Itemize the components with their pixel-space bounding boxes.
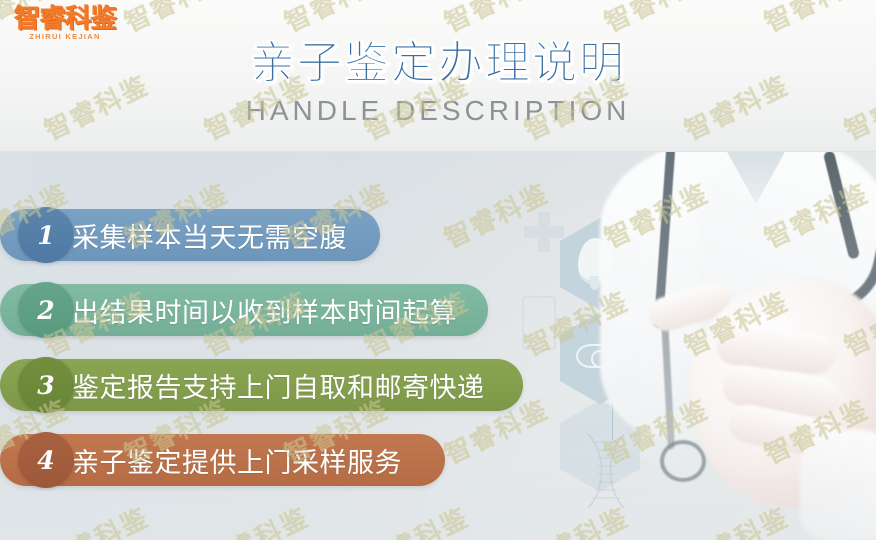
list-item-text-3: 鉴定报告支持上门自取和邮寄快递 (72, 366, 485, 405)
list-item-text-2: 出结果时间以收到样本时间起算 (72, 291, 457, 330)
header-band: 智睿科鉴 ZHIRUI KEJIAN 亲子鉴定办理说明 HANDLE DESCR… (0, 0, 876, 152)
page-subtitle: HANDLE DESCRIPTION (0, 95, 876, 127)
instruction-list: 1 采集样本当天无需空腹 2 出结果时间以收到样本时间起算 3 鉴定报告支持上门… (0, 205, 560, 505)
page-title: 亲子鉴定办理说明 (0, 26, 876, 91)
list-item-pill-4[interactable]: 4 亲子鉴定提供上门采样服务 (0, 434, 445, 486)
list-item-number-1: 1 (18, 207, 74, 263)
list-item-pill-1[interactable]: 1 采集样本当天无需空腹 (0, 209, 380, 261)
list-item[interactable]: 4 亲子鉴定提供上门采样服务 (0, 430, 560, 490)
list-item[interactable]: 2 出结果时间以收到样本时间起算 (0, 280, 560, 340)
stethoscope-bell (660, 440, 706, 482)
list-item-pill-2[interactable]: 2 出结果时间以收到样本时间起算 (0, 284, 488, 336)
list-item-number-2: 2 (18, 282, 74, 338)
list-item-text-4: 亲子鉴定提供上门采样服务 (72, 441, 402, 480)
glove-cuff (800, 430, 876, 540)
list-item[interactable]: 1 采集样本当天无需空腹 (0, 205, 560, 265)
list-item-pill-3[interactable]: 3 鉴定报告支持上门自取和邮寄快递 (0, 359, 523, 411)
list-item[interactable]: 3 鉴定报告支持上门自取和邮寄快递 (0, 355, 560, 415)
list-item-text-1: 采集样本当天无需空腹 (72, 216, 347, 255)
poster-canvas: MEDICAL (0, 0, 876, 540)
dna-icon (580, 432, 632, 510)
list-item-number-4: 4 (18, 432, 74, 488)
list-item-number-3: 3 (18, 357, 74, 413)
